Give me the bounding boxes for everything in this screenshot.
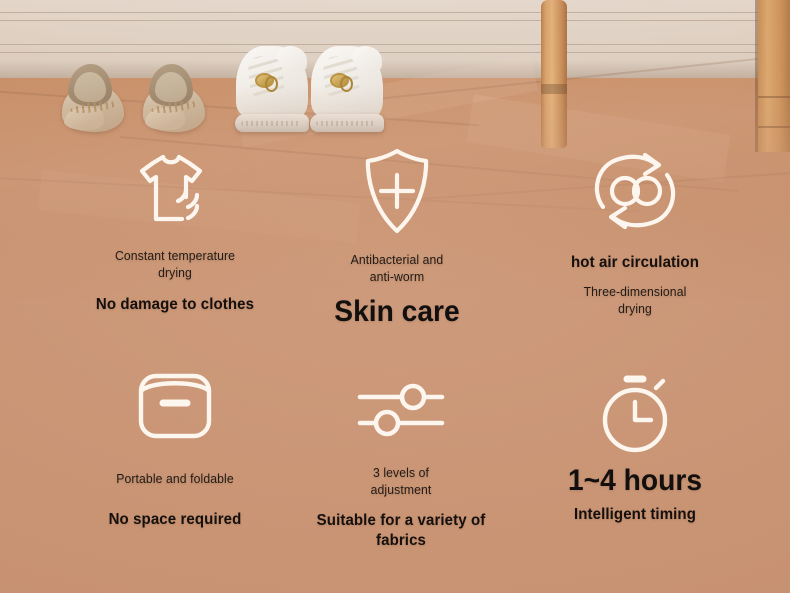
- folding-box-icon: [132, 370, 218, 442]
- feature-constant-temperature-drying: Constant temperature drying No damage to…: [60, 145, 290, 325]
- feature-three-levels-adjustment: 3 levels of adjustment Suitable for a va…: [286, 378, 516, 548]
- feature-headline: hot air circulation: [527, 253, 743, 273]
- feature-portable-foldable: Portable and foldable No space required: [60, 370, 290, 545]
- feature-subtitle-line1: Antibacterial and: [289, 251, 505, 268]
- feature-subtitle-line1: Three-dimensional: [527, 283, 743, 300]
- feature-subtitle-line2: anti-worm: [289, 268, 505, 285]
- shield-plus-icon: [354, 145, 440, 237]
- stopwatch-icon: [594, 372, 676, 456]
- feature-grid: Constant temperature drying No damage to…: [0, 0, 790, 593]
- feature-headline: Skin care: [289, 295, 505, 329]
- feature-subtitle-line2: drying: [527, 300, 743, 317]
- feature-headline: 1~4 hours: [527, 464, 743, 498]
- feature-subtitle-line1: 3 levels of: [293, 464, 509, 481]
- tshirt-steam-icon: [131, 145, 219, 233]
- feature-headline: No damage to clothes: [67, 295, 283, 315]
- feature-antibacterial-anti-worm: Antibacterial and anti-worm Skin care: [282, 145, 512, 340]
- feature-intelligent-timing: 1~4 hours Intelligent timing: [520, 372, 750, 547]
- feature-headline: Suitable for a variety of fabrics: [293, 511, 509, 551]
- feature-subtitle-line1: Constant temperature: [67, 247, 283, 264]
- slider-levels-icon: [354, 378, 448, 444]
- feature-subtitle-line1: Intelligent timing: [527, 505, 743, 525]
- feature-subtitle-line2: adjustment: [293, 481, 509, 498]
- feature-subtitle-line2: drying: [67, 264, 283, 281]
- feature-subtitle-line1: Portable and foldable: [67, 470, 283, 487]
- feature-hot-air-circulation: hot air circulation Three-dimensional dr…: [520, 145, 750, 340]
- product-feature-poster: Constant temperature drying No damage to…: [0, 0, 790, 593]
- circulation-arrows-icon: [587, 145, 683, 237]
- feature-headline: No space required: [67, 510, 283, 530]
